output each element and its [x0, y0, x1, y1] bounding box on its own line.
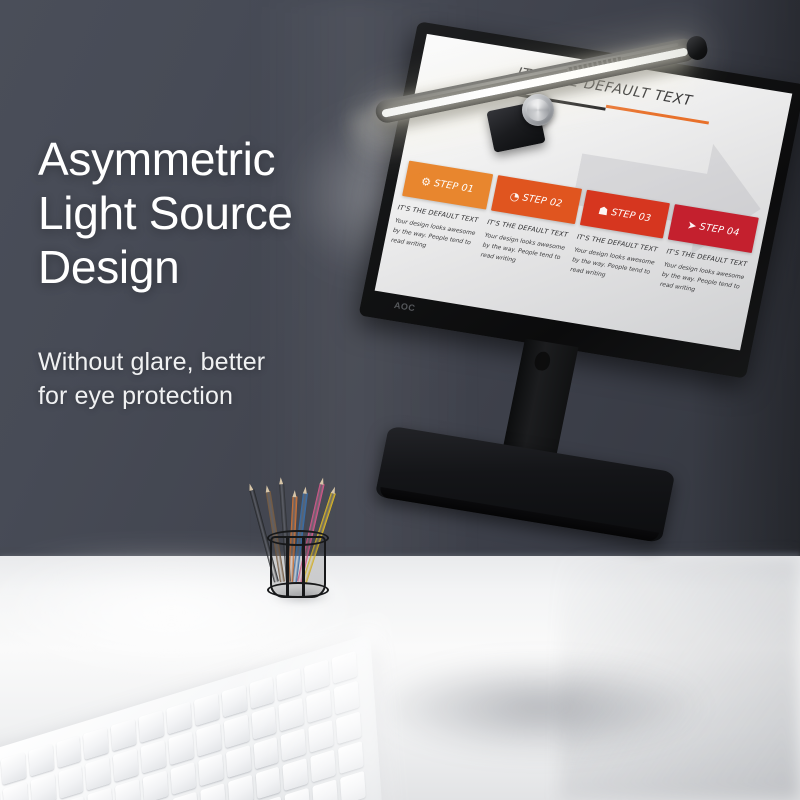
keyboard-key[interactable] [200, 783, 226, 800]
product-marketing-scene: IT'S THE DEFAULT TEXT ⚙STEP 01◔STEP 02☗S… [0, 0, 800, 800]
keyboard-key[interactable] [168, 732, 194, 765]
keyboard-key[interactable] [143, 770, 169, 800]
basket-hoop-top [267, 530, 329, 546]
step-box-1: ⚙STEP 01 [402, 161, 493, 210]
hand-icon: ☗ [597, 204, 609, 216]
headline-line-0: Asymmetric [38, 133, 368, 187]
rocket-icon: ➤ [686, 219, 697, 231]
bulb-icon: ◔ [509, 190, 521, 202]
monitor-cast-shadow [330, 640, 750, 790]
basket-hoop-bottom [267, 582, 329, 598]
keyboard-key[interactable] [113, 748, 139, 781]
keyboard-key[interactable] [86, 757, 112, 790]
keyboard-key[interactable] [83, 727, 109, 760]
subhead-line-0: Without glare, better [38, 346, 368, 380]
keyboard-key[interactable] [115, 779, 141, 800]
keyboard-key[interactable] [198, 753, 224, 786]
keyboard-key[interactable] [0, 791, 1, 800]
slide-column-2: IT'S THE DEFAULT TEXTYour design looks a… [479, 218, 572, 274]
step-label: STEP 04 [699, 221, 741, 238]
keyboard-key[interactable] [88, 787, 114, 800]
keyboard-key[interactable] [141, 740, 167, 773]
step-label: STEP 01 [433, 177, 475, 194]
keyboard-key[interactable] [166, 702, 192, 735]
pencil-holder [252, 470, 342, 600]
keyboard-key[interactable] [1, 752, 27, 785]
slide-column-1: IT'S THE DEFAULT TEXTYour design looks a… [390, 203, 483, 259]
headline-line-2: Design [38, 241, 368, 295]
subhead-line-1: for eye protection [38, 380, 368, 414]
slide-column-3: IT'S THE DEFAULT TEXTYour design looks a… [569, 233, 662, 289]
keyboard-key[interactable] [58, 765, 84, 798]
keyboard-key[interactable] [194, 693, 220, 726]
keyboard-key[interactable] [139, 710, 165, 743]
step-label: STEP 02 [522, 192, 564, 209]
lamp-control-knob[interactable] [522, 94, 554, 126]
step-label: STEP 03 [610, 207, 652, 224]
keyboard-key[interactable] [3, 782, 29, 800]
step-box-2: ◔STEP 02 [491, 175, 582, 224]
keyboard-key[interactable] [28, 744, 54, 777]
monitor-brand-logo: AOC [393, 300, 416, 313]
keyboard-key[interactable] [196, 723, 222, 756]
gear-icon: ⚙ [420, 175, 432, 187]
monitor-light-bar-lamp [374, 24, 710, 154]
keyboard-key[interactable] [170, 762, 196, 795]
keyboard-key[interactable] [111, 718, 137, 751]
slide-column-4: IT'S THE DEFAULT TEXTYour design looks a… [659, 247, 752, 303]
keyboard-key[interactable] [56, 735, 82, 768]
keyboard-key[interactable] [30, 774, 56, 800]
subheadline: Without glare, betterfor eye protection [38, 346, 368, 414]
headline-line-1: Light Source [38, 187, 368, 241]
headline: AsymmetricLight SourceDesign [38, 133, 368, 294]
